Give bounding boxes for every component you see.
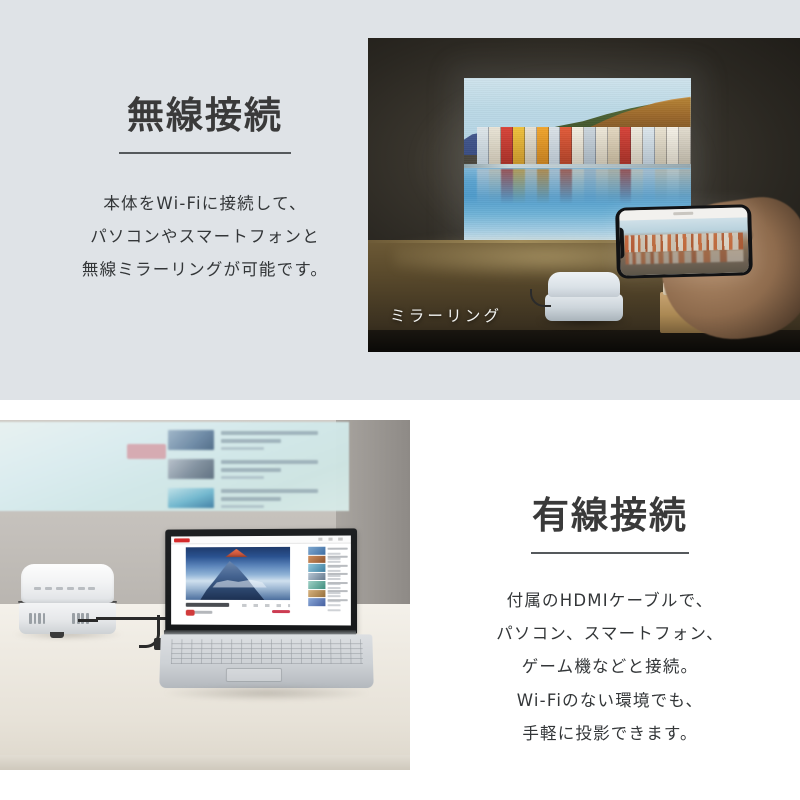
projector-control-buttons[interactable] [34, 586, 95, 591]
wired-body-line-4: Wi-Fiのない環境でも、 [460, 684, 760, 717]
suggestion-thumbnail [308, 555, 326, 563]
projector-foot [50, 632, 64, 638]
wireless-body-line-1: 本体をWi-Fiに接続して、 [60, 187, 350, 220]
wireless-heading: 無線接続 [60, 95, 350, 138]
suggestion-item [308, 546, 348, 554]
projector-vent [29, 613, 45, 624]
wired-body-line-1: 付属のHDMIケーブルで、 [460, 584, 760, 617]
projected-subscribe-button [127, 444, 167, 459]
wireless-body-line-2: パソコンやスマートフォンと [60, 220, 350, 253]
channel-avatar [186, 610, 195, 615]
suggestion-thumbnail [308, 598, 326, 606]
wireless-text-block: 無線接続 本体をWi-Fiに接続して、 パソコンやスマートフォンと 無線ミラーリ… [60, 95, 350, 287]
suggestion-thumbnail [308, 563, 326, 571]
wireless-body-line-3: 無線ミラーリングが可能です。 [60, 253, 350, 286]
video-title-bar [186, 602, 229, 607]
projected-item-text [221, 489, 318, 512]
wired-text-block: 有線接続 付属のHDMIケーブルで、 パソコン、スマートフォン、 ゲーム機などと… [460, 495, 760, 750]
video-player [186, 546, 290, 599]
suggestion-item [308, 581, 348, 589]
browser-top-bar [171, 535, 352, 544]
wall-projected-video-page [0, 422, 349, 511]
laptop-screen [171, 535, 352, 625]
subscribe-button[interactable] [272, 610, 290, 613]
laptop-keyboard[interactable] [170, 639, 362, 664]
projected-thumbnail [168, 459, 213, 479]
wired-photo [0, 420, 410, 770]
section-wired: 有線接続 付属のHDMIケーブルで、 パソコン、スマートフォン、 ゲーム機などと… [0, 400, 800, 800]
laptop-shadow [164, 685, 369, 701]
mirroring-photo: ミラーリング [368, 38, 800, 352]
browser-controls [318, 537, 347, 540]
suggestion-item [308, 563, 348, 571]
desk-front-edge [0, 755, 410, 770]
projector-top-cover [21, 564, 113, 603]
projected-list-item [168, 487, 320, 511]
mountain-peak-sunlit [225, 548, 248, 557]
projected-list-item [168, 458, 320, 482]
video-metadata-row [186, 602, 290, 618]
section-wireless: 無線接続 本体をWi-Fiに接続して、 パソコンやスマートフォンと 無線ミラーリ… [0, 0, 800, 400]
dark-room-scene: ミラーリング [368, 38, 800, 352]
laptop-lid [165, 528, 357, 633]
wired-heading-rule [531, 552, 689, 554]
suggestion-item [308, 589, 348, 597]
wireless-body-copy: 本体をWi-Fiに接続して、 パソコンやスマートフォンと 無線ミラーリングが可能… [60, 187, 350, 287]
wireless-heading-rule [119, 152, 291, 154]
laptop-trackpad[interactable] [226, 667, 282, 681]
wired-body-copy: 付属のHDMIケーブルで、 パソコン、スマートフォン、 ゲーム機などと接続。 W… [460, 584, 760, 751]
video-suggestions-sidebar [308, 546, 348, 612]
projector-body [545, 294, 623, 320]
projected-thumbnail [168, 488, 213, 508]
site-logo [174, 538, 190, 542]
projected-video-list [168, 429, 320, 508]
mountain-silhouette [200, 560, 264, 599]
suggestion-thumbnail [308, 581, 326, 589]
projected-item-text [221, 431, 318, 454]
wired-body-line-2: パソコン、スマートフォン、 [460, 617, 760, 650]
suggestion-thumbnail [308, 589, 326, 597]
wired-body-line-5: 手軽に投影できます。 [460, 717, 760, 750]
smartphone-device [615, 204, 753, 278]
suggestion-thumbnail [308, 572, 326, 580]
projected-thumbnail [168, 430, 213, 450]
projector-top-cover [548, 272, 620, 297]
office-desk-scene [0, 420, 410, 770]
smartphone-screen [620, 207, 750, 275]
suggestion-item [308, 598, 348, 606]
mirroring-caption: ミラーリング [390, 304, 502, 326]
hdmi-cable-tail [78, 619, 98, 622]
suggestion-meta [328, 598, 348, 613]
video-action-buttons[interactable] [242, 604, 290, 607]
projector-device-wireless [545, 272, 623, 321]
product-feature-page: 無線接続 本体をWi-Fiに接続して、 パソコンやスマートフォンと 無線ミラーリ… [0, 0, 800, 800]
suggestion-item [308, 572, 348, 580]
wired-heading: 有線接続 [460, 495, 760, 538]
suggestion-item [308, 555, 348, 563]
projected-item-text [221, 460, 318, 483]
smartphone-mirrored-image [620, 217, 749, 275]
wired-body-line-3: ゲーム機などと接続。 [460, 650, 760, 683]
laptop-device [160, 529, 373, 694]
suggestion-thumbnail [308, 546, 326, 554]
laptop-base [159, 634, 374, 688]
projected-list-item [168, 429, 320, 453]
